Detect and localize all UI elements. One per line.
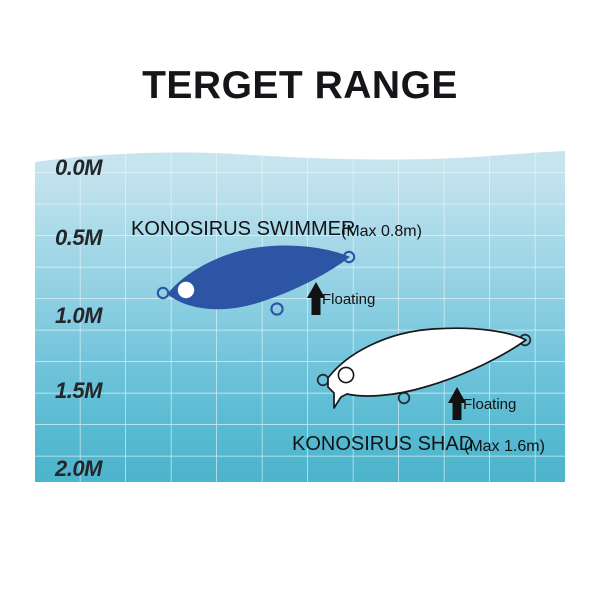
- depth-label-0-5m: 0.5M: [55, 227, 102, 249]
- water-diagram-svg: [35, 110, 565, 482]
- lure-eye-shad: [338, 367, 353, 382]
- lure-max-depth-konosirus-swimmer: (Max 0.8m): [341, 221, 422, 243]
- water-body: [35, 110, 565, 482]
- depth-label-1-5m: 1.5M: [55, 380, 102, 402]
- depth-label-1-0m: 1.0M: [55, 305, 102, 327]
- page-title: TERGET RANGE: [0, 64, 600, 108]
- lure-eye-swimmer: [178, 282, 194, 298]
- floating-label-konosirus-swimmer: Floating: [322, 292, 375, 308]
- depth-label-0-0m: 0.0M: [55, 157, 102, 179]
- lure-max-depth-konosirus-shad: (Max 1.6m): [464, 436, 545, 458]
- lure-name-konosirus-swimmer: KONOSIRUS SWIMMER: [131, 218, 355, 240]
- water-diagram-panel: [35, 110, 565, 482]
- depth-label-2-0m: 2.0M: [55, 458, 102, 480]
- lure-name-konosirus-shad: KONOSIRUS SHAD: [292, 433, 473, 455]
- floating-label-konosirus-shad: Floating: [463, 397, 516, 413]
- illustration-root: TERGET RANGE: [0, 0, 600, 600]
